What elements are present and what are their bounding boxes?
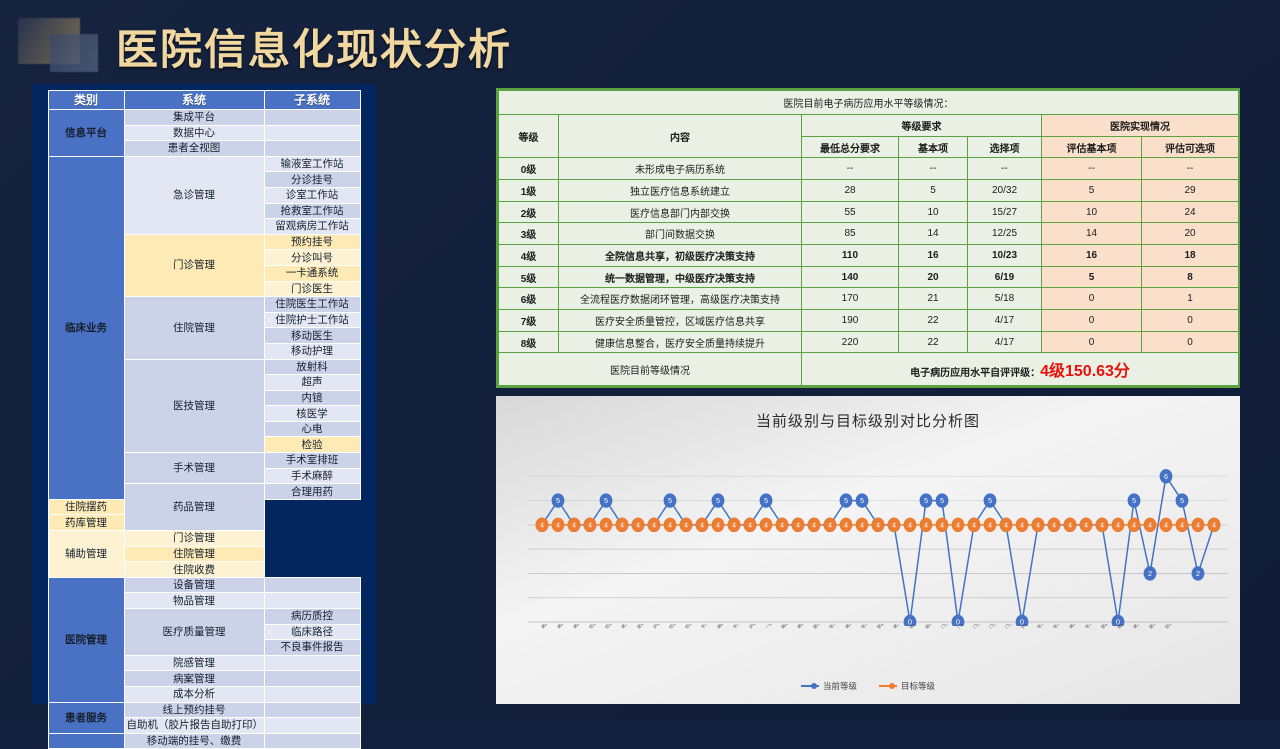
svg-text:4: 4	[1148, 520, 1152, 529]
subsystem-cell	[264, 671, 360, 687]
system-cell: 物品管理	[124, 593, 264, 609]
svg-text:4: 4	[604, 520, 608, 529]
chart-data-point: 4	[1016, 518, 1029, 532]
x-axis-label: 输血记录	[780, 624, 796, 630]
chart-data-point: 4	[824, 518, 837, 532]
chart-data-point: 4	[536, 518, 549, 532]
basic-cell: 16	[899, 245, 968, 267]
svg-text:2: 2	[1148, 569, 1152, 578]
eval-basic-cell: 14	[1042, 223, 1142, 245]
subsystem-cell: 预约挂号	[264, 234, 360, 250]
svg-text:5: 5	[924, 496, 928, 505]
subsystem-cell: 核医学	[264, 406, 360, 422]
svg-text:4: 4	[764, 520, 768, 529]
eval-basic-cell: 0	[1042, 310, 1142, 332]
table-row: 8级健康信息整合，医疗安全质量持续提升220224/1700	[499, 331, 1239, 353]
svg-text:5: 5	[764, 496, 768, 505]
chart-data-point: 5	[600, 493, 613, 507]
chart-data-point: 5	[856, 493, 869, 507]
system-cell: 线上预约挂号	[124, 702, 264, 718]
chart-title: 当前级别与目标级别对比分析图	[496, 396, 1240, 431]
system-cell: 手术管理	[124, 453, 264, 484]
chart-data-point: 5	[760, 493, 773, 507]
subsystem-cell: 手术室排班	[264, 453, 360, 469]
min-score-cell: 55	[802, 201, 899, 223]
chart-data-point: 4	[1048, 518, 1061, 532]
basic-cell: 20	[899, 266, 968, 288]
basic-cell: 22	[899, 331, 968, 353]
subsystem-cell: 住院护士工作站	[264, 312, 360, 328]
svg-text:4: 4	[940, 520, 944, 529]
min-score-cell: --	[802, 158, 899, 180]
eval-optional-cell: 20	[1142, 223, 1239, 245]
svg-text:4: 4	[892, 520, 896, 529]
header-decoration-block-2	[50, 34, 98, 72]
subsystem-cell: 心电	[264, 421, 360, 437]
chart-data-point: 4	[728, 518, 741, 532]
chart-data-point: 4	[1160, 518, 1173, 532]
system-inventory-panel: 类别 系统 子系统 信息平台集成平台数据中心患者全视图临床业务急诊管理输液室工作…	[32, 84, 376, 704]
optional-cell: --	[968, 158, 1042, 180]
chart-data-point: 5	[1176, 493, 1189, 507]
svg-text:5: 5	[860, 496, 864, 505]
table-row: 1级独立医疗信息系统建立28520/32529	[499, 180, 1239, 202]
x-axis-label: 检验记录	[684, 624, 700, 630]
eval-basic-cell: 5	[1042, 180, 1142, 202]
caption-row: 医院目前电子病历应用水平等级情况：	[499, 91, 1239, 115]
system-cell: 集成平台	[124, 110, 264, 126]
table-row: 医院管理设备管理	[48, 577, 360, 593]
svg-text:4: 4	[636, 520, 640, 529]
subsystem-cell	[264, 733, 360, 749]
subsystem-cell: 手术麻醉	[264, 468, 360, 484]
svg-text:4: 4	[876, 520, 880, 529]
legend-label-target: 目标等级	[901, 680, 935, 692]
chart-data-point: 4	[952, 518, 965, 532]
system-cell: 辅助管理	[48, 531, 124, 578]
svg-text:4: 4	[572, 520, 576, 529]
min-score-cell: 170	[802, 288, 899, 310]
system-cell: 医技管理	[124, 359, 264, 453]
system-cell: 急诊管理	[124, 156, 264, 234]
subsystem-cell: 分诊挂号	[264, 172, 360, 188]
svg-text:5: 5	[940, 496, 944, 505]
subsystem-cell	[264, 593, 360, 609]
optional-cell: 4/17	[968, 310, 1042, 332]
eval-basic-cell: 16	[1042, 245, 1142, 267]
svg-text:4: 4	[540, 520, 544, 529]
eval-optional-cell: 1	[1142, 288, 1239, 310]
chart-data-point: 4	[632, 518, 645, 532]
table-row: 6级全流程医疗数据闭环管理，高级医疗决策支持170215/1801	[499, 288, 1239, 310]
optional-cell: 12/25	[968, 223, 1042, 245]
table-row: 5级统一数据管理，中级医疗决策支持140206/1958	[499, 266, 1239, 288]
chart-data-point: 4	[696, 518, 709, 532]
svg-text:4: 4	[668, 520, 672, 529]
svg-text:4: 4	[748, 520, 752, 529]
x-axis-label: 门诊挂号	[940, 624, 956, 630]
col-header-eval-optional: 评估可选项	[1142, 136, 1239, 158]
slide-root: 医院信息化现状分析 类别 系统 子系统 信息平台集成平台数据中心患者全视图临床业…	[0, 0, 1280, 720]
col-header-content: 内容	[559, 115, 802, 158]
svg-text:4: 4	[972, 520, 976, 529]
subsystem-cell: 分诊叫号	[264, 250, 360, 266]
subsystem-cell	[264, 110, 360, 126]
chart-data-point: 4	[1112, 518, 1125, 532]
chart-data-point: 5	[712, 493, 725, 507]
subsystem-cell: 病历质控	[264, 609, 360, 625]
chart-data-point: 4	[936, 518, 949, 532]
svg-text:6: 6	[1164, 472, 1168, 481]
category-cell: 患者服务	[48, 702, 124, 733]
svg-text:5: 5	[1132, 496, 1136, 505]
chart-data-point: 4	[744, 518, 757, 532]
content-cell: 全院信息共享，初级医疗决策支持	[559, 245, 802, 267]
chart-data-point: 4	[648, 518, 661, 532]
min-score-cell: 110	[802, 245, 899, 267]
table-row: 4级全院信息共享，初级医疗决策支持1101610/231618	[499, 245, 1239, 267]
level-cell: 8级	[499, 331, 559, 353]
category-cell: 临床业务	[48, 156, 124, 499]
content-cell: 健康信息整合，医疗安全质量持续提升	[559, 331, 802, 353]
system-cell: 医疗质量管理	[124, 609, 264, 656]
subsystem-cell: 住院收费	[124, 562, 264, 578]
system-cell: 门诊管理	[124, 234, 264, 296]
col-header-category: 类别	[48, 91, 124, 110]
chart-data-point: 5	[552, 493, 565, 507]
svg-text:4: 4	[1100, 520, 1104, 529]
legend-dot-current	[811, 683, 817, 689]
content-cell: 医疗信息部门内部交换	[559, 201, 802, 223]
svg-text:4: 4	[924, 520, 928, 529]
svg-text:4: 4	[1132, 520, 1136, 529]
subsystem-cell: 一卡通系统	[264, 265, 360, 281]
subsystem-cell	[264, 577, 360, 593]
chart-data-point: 4	[680, 518, 693, 532]
svg-text:4: 4	[588, 520, 592, 529]
eval-basic-cell: 0	[1042, 331, 1142, 353]
subsystem-cell: 抢救室工作站	[264, 203, 360, 219]
min-score-cell: 140	[802, 266, 899, 288]
system-cell: 成本分析	[124, 686, 264, 702]
col-header-system: 系统	[124, 91, 264, 110]
svg-text:4: 4	[684, 520, 688, 529]
subsystem-cell: 内镜	[264, 390, 360, 406]
level-cell: 1级	[499, 180, 559, 202]
svg-text:4: 4	[796, 520, 800, 529]
footer-row: 医院目前等级情况电子病历应用水平自评评级：4级150.63分	[499, 353, 1239, 386]
eval-optional-cell: 8	[1142, 266, 1239, 288]
eval-basic-cell: 10	[1042, 201, 1142, 223]
page-title: 医院信息化现状分析	[116, 16, 512, 77]
svg-text:4: 4	[1020, 520, 1024, 529]
svg-text:4: 4	[812, 520, 816, 529]
system-cell: 患者全视图	[124, 141, 264, 157]
chart-data-point: 4	[856, 518, 869, 532]
subsystem-cell	[264, 686, 360, 702]
chart-data-point: 2	[1192, 566, 1205, 580]
subsystem-cell: 门诊管理	[124, 531, 264, 547]
optional-cell: 10/23	[968, 245, 1042, 267]
chart-data-point: 5	[664, 493, 677, 507]
svg-text:4: 4	[1180, 520, 1184, 529]
x-axis-label: 护理记录	[652, 624, 668, 630]
system-inventory-table: 类别 系统 子系统 信息平台集成平台数据中心患者全视图临床业务急诊管理输液室工作…	[48, 90, 361, 749]
svg-text:4: 4	[620, 520, 624, 529]
subsystem-cell	[264, 125, 360, 141]
chart-data-point: 5	[1128, 493, 1141, 507]
chart-data-point: 5	[936, 493, 949, 507]
svg-text:4: 4	[956, 520, 960, 529]
chart-data-point: 4	[1064, 518, 1077, 532]
subsystem-cell	[264, 141, 360, 157]
chart-legend: 当前等级 目标等级	[496, 680, 1240, 692]
svg-text:4: 4	[732, 520, 736, 529]
chart-data-point: 4	[1080, 518, 1093, 532]
eval-basic-cell: 0	[1042, 288, 1142, 310]
svg-text:5: 5	[844, 496, 848, 505]
subsystem-cell: 超声	[264, 375, 360, 391]
eval-optional-cell: 29	[1142, 180, 1239, 202]
svg-text:4: 4	[828, 520, 832, 529]
x-axis-label: 医疗记录	[812, 624, 828, 630]
table-row: 0级未形成电子病历系统----------	[499, 158, 1239, 180]
chart-x-axis-labels: 病房管理制度病房病危医嘱病房给药医嘱检查检验医嘱检查检验报告病人管理与评估医嘱处…	[528, 624, 1228, 676]
col-header-basic: 基本项	[899, 136, 968, 158]
chart-data-point: 4	[808, 518, 821, 532]
svg-text:4: 4	[556, 520, 560, 529]
category-cell: 信息平台	[48, 110, 124, 157]
subsystem-cell: 药库管理	[48, 515, 124, 531]
table-header-row: 类别 系统 子系统	[48, 91, 360, 110]
category-cell	[48, 733, 124, 749]
eval-optional-cell: 0	[1142, 331, 1239, 353]
basic-cell: 22	[899, 310, 968, 332]
min-score-cell: 85	[802, 223, 899, 245]
legend-dot-target	[889, 683, 895, 689]
chart-data-point: 4	[792, 518, 805, 532]
chart-data-point: 4	[1176, 518, 1189, 532]
chart-data-point: 4	[888, 518, 901, 532]
chart-data-point: 4	[920, 518, 933, 532]
chart-data-point: 4	[1032, 518, 1045, 532]
subsystem-cell: 住院管理	[124, 546, 264, 562]
group-header-requirements: 等级要求	[802, 115, 1042, 137]
svg-text:5: 5	[716, 496, 720, 505]
svg-text:5: 5	[988, 496, 992, 505]
subsystem-cell: 诊室工作站	[264, 187, 360, 203]
level-cell: 5级	[499, 266, 559, 288]
basic-cell: 10	[899, 201, 968, 223]
table-row: 辅助管理门诊管理	[48, 531, 360, 547]
basic-cell: 14	[899, 223, 968, 245]
chart-data-point: 4	[760, 518, 773, 532]
x-axis-label: 手术记录	[732, 624, 748, 630]
subsystem-cell	[264, 655, 360, 671]
level-cell: 0级	[499, 158, 559, 180]
chart-data-point: 4	[1208, 518, 1221, 532]
chart-data-point: 4	[568, 518, 581, 532]
svg-text:5: 5	[1180, 496, 1184, 505]
x-axis-label: 医嘱处方	[636, 624, 652, 630]
optional-cell: 5/18	[968, 288, 1042, 310]
svg-text:4: 4	[1196, 520, 1200, 529]
chart-data-point: 5	[920, 493, 933, 507]
category-cell: 医院管理	[48, 577, 124, 702]
optional-cell: 20/32	[968, 180, 1042, 202]
eval-basic-cell: --	[1042, 158, 1142, 180]
chart-data-point: 5	[984, 493, 997, 507]
level-cell: 2级	[499, 201, 559, 223]
eval-optional-cell: --	[1142, 158, 1239, 180]
system-cell: 住院管理	[124, 297, 264, 359]
subsystem-cell: 临床路径	[264, 624, 360, 640]
subsystem-cell: 留观病房工作站	[264, 219, 360, 235]
chart-data-point: 4	[584, 518, 597, 532]
legend-item-target: 目标等级	[879, 680, 935, 692]
chart-data-point: 2	[1144, 566, 1157, 580]
col-header-min-score: 最低总分要求	[802, 136, 899, 158]
svg-text:4: 4	[652, 520, 656, 529]
svg-text:5: 5	[604, 496, 608, 505]
min-score-cell: 220	[802, 331, 899, 353]
eval-optional-cell: 18	[1142, 245, 1239, 267]
chart-data-point: 4	[664, 518, 677, 532]
level-cell: 3级	[499, 223, 559, 245]
chart-data-point: 4	[984, 518, 997, 532]
system-cell: 药品管理	[124, 484, 264, 531]
chart-data-point: 4	[616, 518, 629, 532]
svg-text:4: 4	[1116, 520, 1120, 529]
svg-text:4: 4	[716, 520, 720, 529]
subsystem-cell: 放射科	[264, 359, 360, 375]
svg-text:2: 2	[1196, 569, 1200, 578]
chart-data-point: 4	[872, 518, 885, 532]
content-cell: 部门间数据交换	[559, 223, 802, 245]
chart-data-point: 4	[712, 518, 725, 532]
table-row: 移动端的挂号、缴费	[48, 733, 360, 749]
chart-data-point: 4	[1000, 518, 1013, 532]
table-row: 2级医疗信息部门内部交换551015/271024	[499, 201, 1239, 223]
chart-data-point: 4	[904, 518, 917, 532]
comparison-chart-panel: 当前级别与目标级别对比分析图 4544544454454454444554405…	[496, 396, 1240, 704]
chart-data-point: 6	[1160, 469, 1173, 483]
level-cell: 6级	[499, 288, 559, 310]
x-axis-label: 检查记录	[668, 624, 684, 630]
svg-text:4: 4	[1036, 520, 1040, 529]
emr-caption: 医院目前电子病历应用水平等级情况：	[499, 91, 1239, 115]
chart-plot-area: 4544544454454454444554405504540444440526…	[528, 444, 1228, 626]
subsystem-cell: 住院医生工作站	[264, 297, 360, 313]
optional-cell: 15/27	[968, 201, 1042, 223]
subsystem-cell: 输液室工作站	[264, 156, 360, 172]
content-cell: 医疗安全质量管控，区域医疗信息共享	[559, 310, 802, 332]
content-cell: 全流程医疗数据闭环管理，高级医疗决策支持	[559, 288, 802, 310]
level-cell: 7级	[499, 310, 559, 332]
svg-text:4: 4	[700, 520, 704, 529]
svg-text:4: 4	[844, 520, 848, 529]
svg-text:4: 4	[1212, 520, 1216, 529]
content-cell: 统一数据管理，中级医疗决策支持	[559, 266, 802, 288]
svg-text:5: 5	[556, 496, 560, 505]
svg-text:4: 4	[860, 520, 864, 529]
chart-data-point: 4	[1128, 518, 1141, 532]
legend-label-current: 当前等级	[823, 680, 857, 692]
chart-data-point: 4	[776, 518, 789, 532]
chart-data-point: 4	[968, 518, 981, 532]
svg-text:4: 4	[908, 520, 912, 529]
eval-basic-cell: 5	[1042, 266, 1142, 288]
x-axis-label: 知识库与决策支持	[1164, 624, 1191, 630]
basic-cell: --	[899, 158, 968, 180]
chart-data-point: 4	[600, 518, 613, 532]
svg-text:4: 4	[780, 520, 784, 529]
table-row: 3级部门间数据交换851412/251420	[499, 223, 1239, 245]
chart-data-point: 5	[840, 493, 853, 507]
subsystem-cell: 不良事件报告	[264, 640, 360, 656]
basic-cell: 5	[899, 180, 968, 202]
subsystem-cell: 移动医生	[264, 328, 360, 344]
group-header-implementation: 医院实现情况	[1042, 115, 1239, 137]
svg-text:4: 4	[1164, 520, 1168, 529]
footer-score-value: 4级150.63分	[1040, 363, 1130, 380]
group-header-row: 等级内容等级要求医院实现情况	[499, 115, 1239, 137]
content-cell: 独立医疗信息系统建立	[559, 180, 802, 202]
chart-data-point: 4	[1096, 518, 1109, 532]
basic-cell: 21	[899, 288, 968, 310]
optional-cell: 4/17	[968, 331, 1042, 353]
col-header-level: 等级	[499, 115, 559, 158]
system-cell: 移动端的挂号、缴费	[124, 733, 264, 749]
content-cell: 未形成电子病历系统	[559, 158, 802, 180]
system-cell: 设备管理	[124, 577, 264, 593]
emr-level-table: 医院目前电子病历应用水平等级情况：等级内容等级要求医院实现情况最低总分要求基本项…	[498, 90, 1239, 386]
system-cell: 病案管理	[124, 671, 264, 687]
svg-text:5: 5	[668, 496, 672, 505]
subsystem-cell: 住院摆药	[48, 499, 124, 515]
min-score-cell: 190	[802, 310, 899, 332]
table-row: 7级医疗安全质量管控，区域医疗信息共享190224/1700	[499, 310, 1239, 332]
level-cell: 4级	[499, 245, 559, 267]
table-row: 患者服务线上预约挂号	[48, 702, 360, 718]
optional-cell: 6/19	[968, 266, 1042, 288]
svg-text:4: 4	[1068, 520, 1072, 529]
subsystem-cell	[264, 702, 360, 718]
table-row: 信息平台集成平台	[48, 110, 360, 126]
col-header-eval-basic: 评估基本项	[1042, 136, 1142, 158]
footer-score: 电子病历应用水平自评评级：4级150.63分	[802, 353, 1239, 386]
emr-level-panel: 医院目前电子病历应用水平等级情况：等级内容等级要求医院实现情况最低总分要求基本项…	[496, 88, 1240, 388]
x-axis-label: 护理计划	[748, 624, 764, 630]
svg-text:4: 4	[988, 520, 992, 529]
subsystem-cell: 移动护理	[264, 343, 360, 359]
system-cell: 院感管理	[124, 655, 264, 671]
table-row: 临床业务急诊管理输液室工作站	[48, 156, 360, 172]
footer-label: 医院目前等级情况	[499, 353, 802, 386]
col-header-optional: 选择项	[968, 136, 1042, 158]
min-score-cell: 28	[802, 180, 899, 202]
eval-optional-cell: 24	[1142, 201, 1239, 223]
svg-text:4: 4	[1084, 520, 1088, 529]
subsystem-cell: 检验	[264, 437, 360, 453]
chart-data-point: 4	[552, 518, 565, 532]
chart-data-point: 4	[1144, 518, 1157, 532]
x-axis-label: 病程记录	[796, 624, 812, 630]
svg-text:4: 4	[1004, 520, 1008, 529]
chart-data-point: 4	[1192, 518, 1205, 532]
chart-data-point: 4	[840, 518, 853, 532]
legend-item-current: 当前等级	[801, 680, 857, 692]
